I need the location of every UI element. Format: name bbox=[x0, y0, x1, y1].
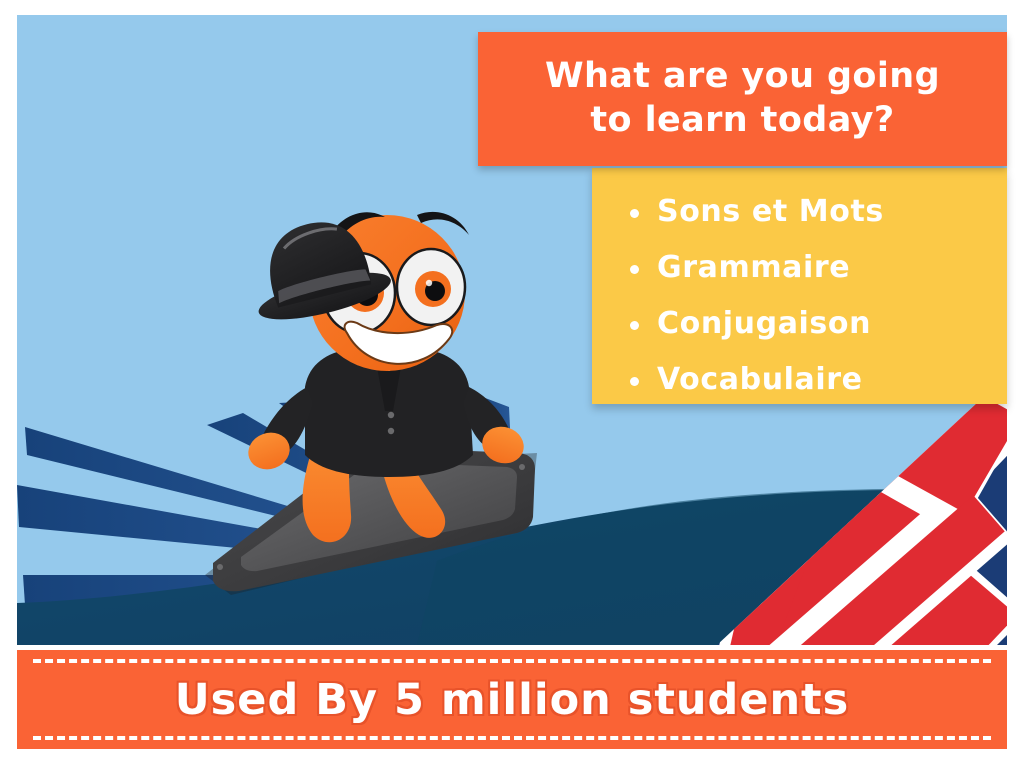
topics-card: Sons et Mots Grammaire Conjugaison Vocab… bbox=[592, 168, 1007, 404]
title-card: What are you going to learn today? bbox=[478, 32, 1007, 166]
topic-label: Sons et Mots bbox=[657, 197, 884, 227]
topic-label: Grammaire bbox=[657, 253, 850, 283]
bullet-icon bbox=[630, 321, 639, 330]
banner-text: Used By 5 million students bbox=[175, 675, 849, 725]
page-title: What are you going to learn today? bbox=[531, 55, 954, 143]
list-item[interactable]: Grammaire bbox=[592, 240, 1007, 296]
topic-label: Vocabulaire bbox=[657, 365, 863, 395]
topic-label: Conjugaison bbox=[657, 309, 871, 339]
bottom-banner: Used By 5 million students bbox=[17, 650, 1007, 749]
list-item[interactable]: Vocabulaire bbox=[592, 352, 1007, 408]
list-item[interactable]: Conjugaison bbox=[592, 296, 1007, 352]
bullet-icon bbox=[630, 209, 639, 218]
bullet-icon bbox=[630, 377, 639, 386]
list-item[interactable]: Sons et Mots bbox=[592, 184, 1007, 240]
topics-list: Sons et Mots Grammaire Conjugaison Vocab… bbox=[592, 184, 1007, 408]
promo-slide: What are you going to learn today? Sons … bbox=[0, 0, 1024, 768]
bullet-icon bbox=[630, 265, 639, 274]
mascot-right-eye bbox=[397, 249, 465, 325]
